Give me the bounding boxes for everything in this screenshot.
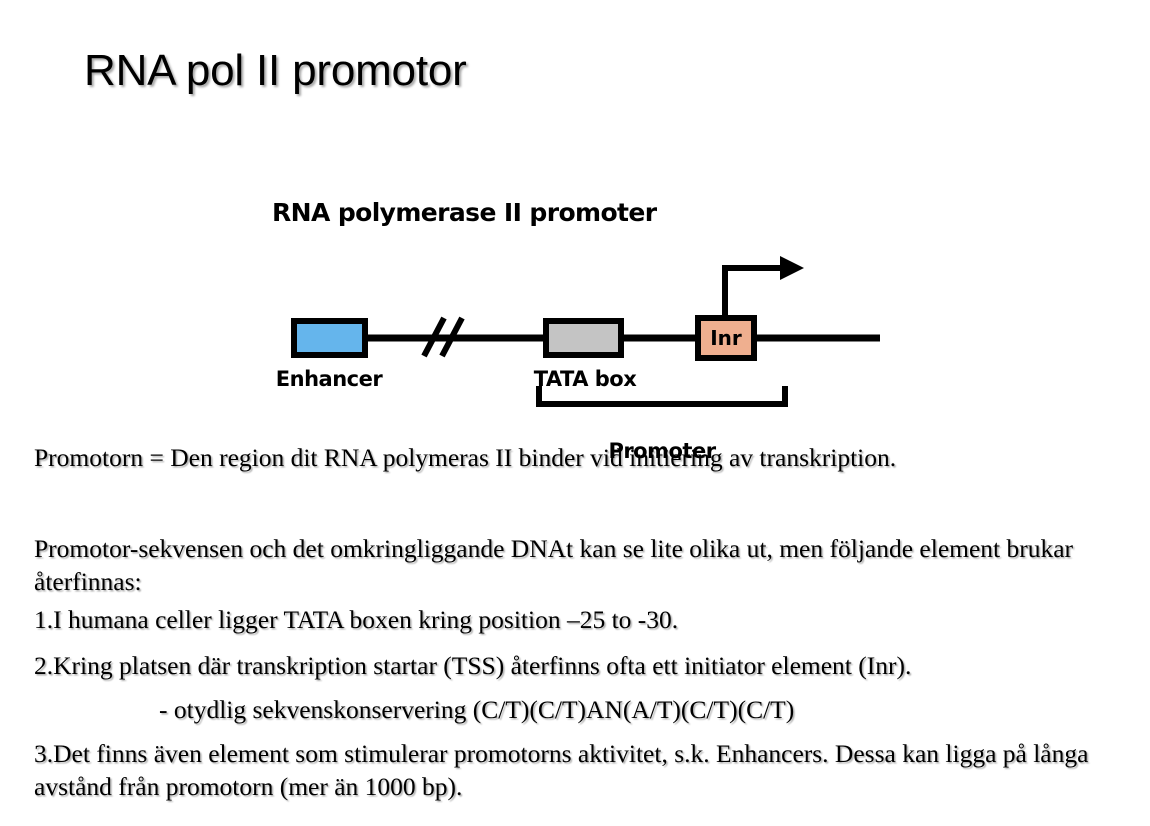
list-item-2-sub: - otydlig sekvenskonservering (C/T)(C/T)… [34,694,1150,727]
lead-paragraph: Promotor-sekvensen och det omkringliggan… [34,533,1104,598]
enhancer-label: Enhancer [276,367,384,391]
intro-paragraph: Promotorn = Den region dit RNA polymeras… [34,442,1124,475]
promoter-diagram: RNA polymerase II promoter Enhancer TATA… [258,198,918,418]
list-item-1: 1.I humana celler ligger TATA boxen krin… [34,604,1124,637]
enhancer-box [294,321,365,355]
list-item-3: 3.Det finns även element som stimulerar … [34,738,1124,803]
transcription-start-arrow-icon [725,256,804,322]
list-item-2: 2.Kring platsen där transkription starta… [34,650,1124,683]
inr-label: Inr [710,326,742,350]
page-title: RNA pol II promotor [84,46,467,96]
tata-box-label: TATA box [534,367,638,391]
figure-title: RNA polymerase II promoter [272,198,656,227]
tata-box [546,321,621,355]
promoter-diagram-svg: Enhancer TATA box Inr [258,236,918,418]
